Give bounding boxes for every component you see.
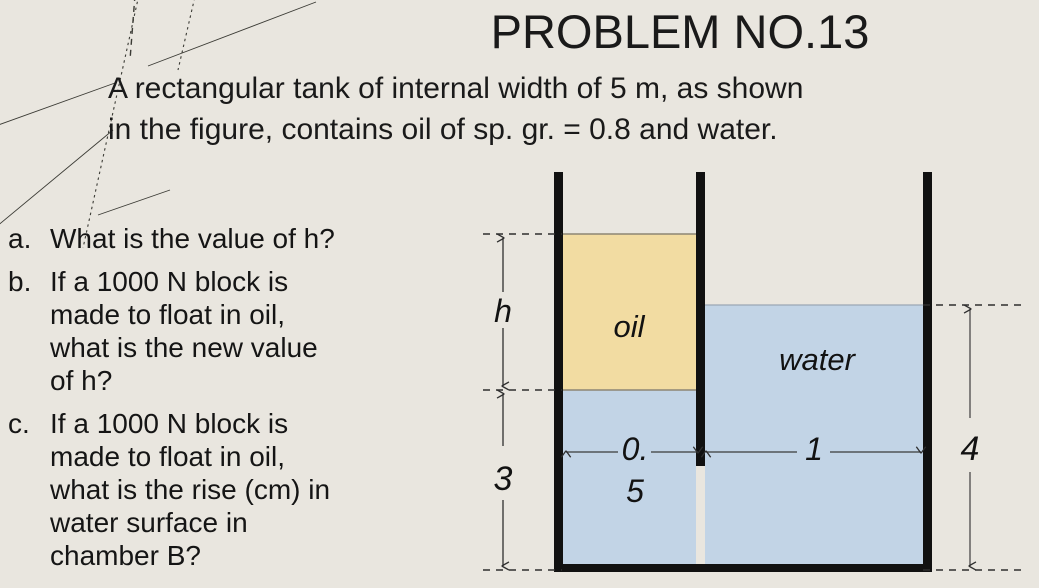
list-item: c. If a 1000 N block is made to float in…	[4, 407, 454, 572]
decorative-dotted-line-2	[130, 0, 135, 60]
dimension-label-4: 4	[961, 430, 980, 468]
list-item-body: What is the value of h?	[50, 222, 454, 255]
water-label: water	[779, 342, 856, 377]
decorative-solid-line-1	[0, 83, 115, 128]
tank-bottom-wall	[554, 564, 932, 572]
page-title: PROBLEM NO.13	[330, 2, 1030, 62]
list-item: a. What is the value of h?	[4, 222, 454, 255]
dimension-label-3: 3	[494, 460, 513, 498]
tank-partition-wall	[696, 172, 705, 466]
tank-right-wall	[923, 172, 932, 571]
list-item-marker: c.	[4, 407, 50, 572]
list-item-line: water surface in	[50, 506, 454, 539]
list-item-line: what is the new value	[50, 331, 454, 364]
oil-label: oil	[613, 309, 645, 344]
list-item-line: chamber B?	[50, 539, 454, 572]
tank-diagram: h 3 4 0. 5 1 oil water	[470, 160, 1039, 588]
decorative-solid-line-2	[148, 2, 316, 66]
tank-left-wall	[554, 172, 563, 571]
list-item-line: what is the rise (cm) in	[50, 473, 454, 506]
list-item-line: made to float in oil,	[50, 440, 454, 473]
decorative-dotted-line-3	[178, 0, 196, 70]
intro-paragraph: A rectangular tank of internal width of …	[108, 68, 1028, 150]
decorative-solid-line-4	[98, 190, 170, 215]
tank-diagram-svg: h 3 4 0. 5 1 oil water	[470, 160, 1039, 588]
question-list: a. What is the value of h? b. If a 1000 …	[4, 222, 454, 582]
dimension-label-width-right: 1	[805, 431, 823, 467]
dimension-label-width-left-bottom: 5	[626, 473, 644, 509]
intro-line-2: in the figure, contains oil of sp. gr. =…	[108, 109, 1028, 150]
list-item-line: If a 1000 N block is	[50, 407, 454, 440]
dimension-label-width-left-top: 0.	[622, 431, 649, 467]
decorative-solid-line-3	[0, 130, 113, 232]
list-item-marker: b.	[4, 265, 50, 397]
list-item-line: of h?	[50, 364, 454, 397]
list-item-marker: a.	[4, 222, 50, 255]
list-item-line: made to float in oil,	[50, 298, 454, 331]
slide-canvas: PROBLEM NO.13 A rectangular tank of inte…	[0, 0, 1039, 588]
list-item-body: If a 1000 N block is made to float in oi…	[50, 265, 454, 397]
list-item-line: If a 1000 N block is	[50, 265, 454, 298]
intro-line-1: A rectangular tank of internal width of …	[108, 68, 1028, 109]
dimension-label-h: h	[494, 293, 512, 329]
list-item-body: If a 1000 N block is made to float in oi…	[50, 407, 454, 572]
list-item-line: What is the value of h?	[50, 222, 454, 255]
list-item: b. If a 1000 N block is made to float in…	[4, 265, 454, 397]
